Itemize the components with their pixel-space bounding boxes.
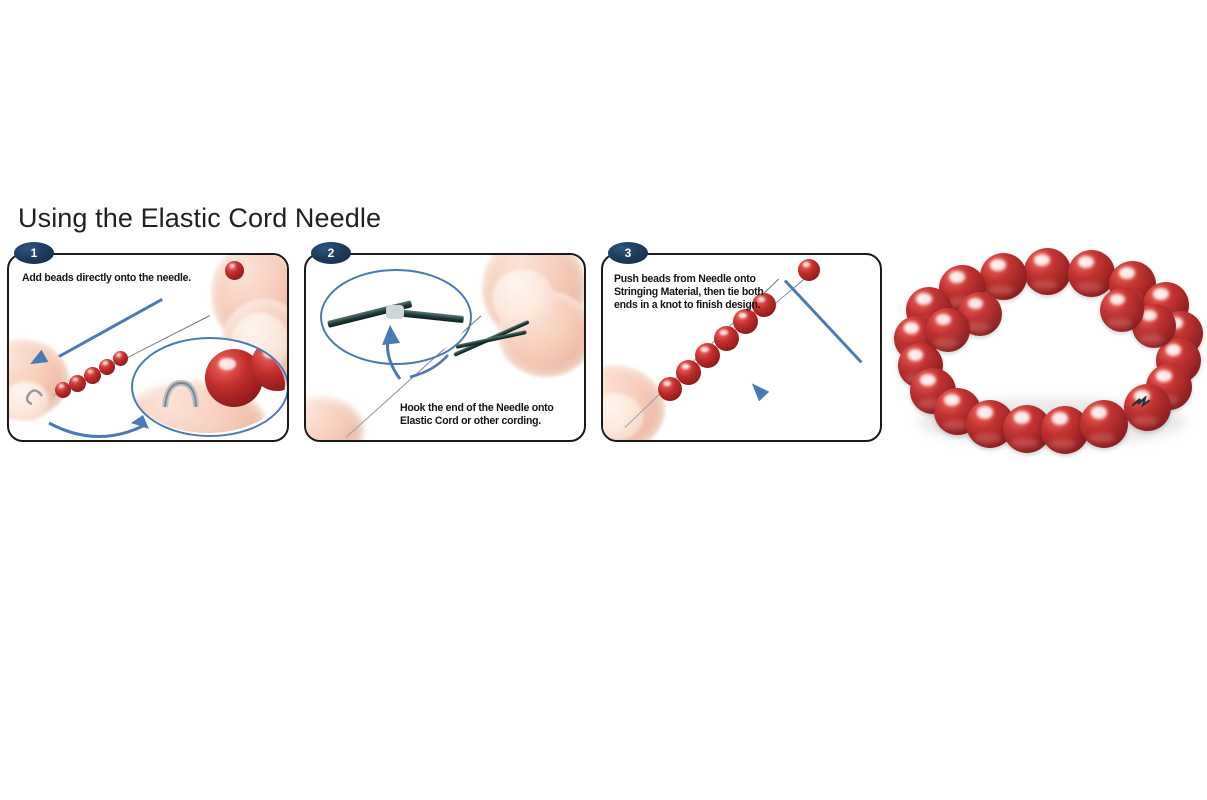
bead-separated [798,259,820,281]
step-badge-number: 2 [328,247,335,260]
product-photo-bracelet [896,248,1204,454]
bracelet-bead [926,308,970,352]
illustration-canvas: Using the Elastic Cord Needle [0,0,1207,800]
step-badge-number: 3 [625,247,632,260]
step-badge-3: 3 [608,242,648,264]
arrow-head-push-direction [747,379,770,402]
step-badge-2: 2 [311,242,351,264]
step-panel-1: Add beads directly onto the needle. [7,253,289,442]
page-title: Using the Elastic Cord Needle [18,203,381,234]
bracelet-bead [1100,288,1144,332]
step-panel-2: Hook the end of the Needle onto Elastic … [304,253,586,442]
step-badge-1: 1 [14,242,54,264]
bracelet-bead [1068,250,1115,297]
bracelet-bead [1080,400,1128,448]
step-3-caption: Push beads from Needle onto Stringing Ma… [614,273,764,312]
step-badge-number: 1 [31,247,38,260]
arrow-shaft-push-direction [784,279,863,363]
bracelet-bead [1024,248,1071,295]
step-1-caption: Add beads directly onto the needle. [22,272,191,285]
step-2-caption: Hook the end of the Needle onto Elastic … [400,402,554,428]
elastic-cord-knot [1132,396,1150,410]
step-panel-3: Push beads from Needle onto Stringing Ma… [601,253,882,442]
